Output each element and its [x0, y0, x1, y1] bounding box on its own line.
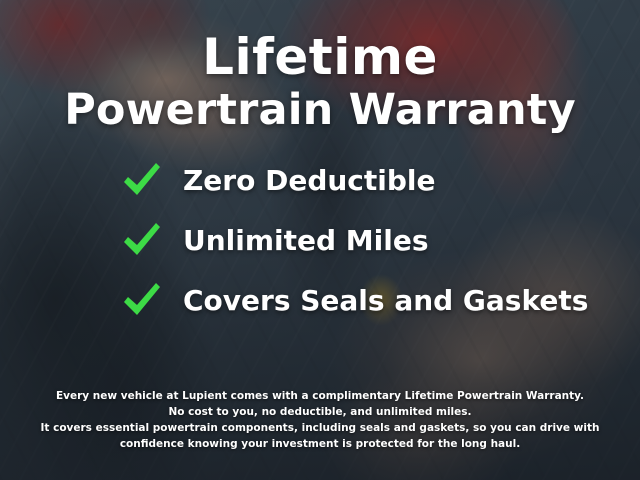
headline-line-2: Powertrain Warranty — [64, 86, 576, 134]
disclaimer-line-2: No cost to you, no deductible, and unlim… — [24, 404, 616, 420]
feature-label: Zero Deductible — [183, 164, 436, 197]
disclaimer-text: Every new vehicle at Lupient comes with … — [0, 388, 640, 452]
feature-label: Covers Seals and Gaskets — [183, 284, 588, 317]
feature-item-zero-deductible: Zero Deductible — [55, 160, 585, 200]
disclaimer-line-3: It covers essential powertrain component… — [24, 420, 616, 436]
feature-item-unlimited-miles: Unlimited Miles — [55, 220, 585, 260]
promo-banner: Lifetime Powertrain Warranty Zero Deduct… — [0, 0, 640, 480]
check-icon — [121, 160, 163, 200]
disclaimer-line-4: confidence knowing your investment is pr… — [24, 436, 616, 452]
check-icon — [121, 220, 163, 260]
feature-label: Unlimited Miles — [183, 224, 429, 257]
check-icon — [121, 280, 163, 320]
disclaimer-line-1: Every new vehicle at Lupient comes with … — [24, 388, 616, 404]
feature-list: Zero Deductible Unlimited Miles Covers S… — [55, 160, 585, 320]
feature-item-covers-seals-and-gaskets: Covers Seals and Gaskets — [55, 280, 585, 320]
headline-line-1: Lifetime — [202, 30, 438, 84]
